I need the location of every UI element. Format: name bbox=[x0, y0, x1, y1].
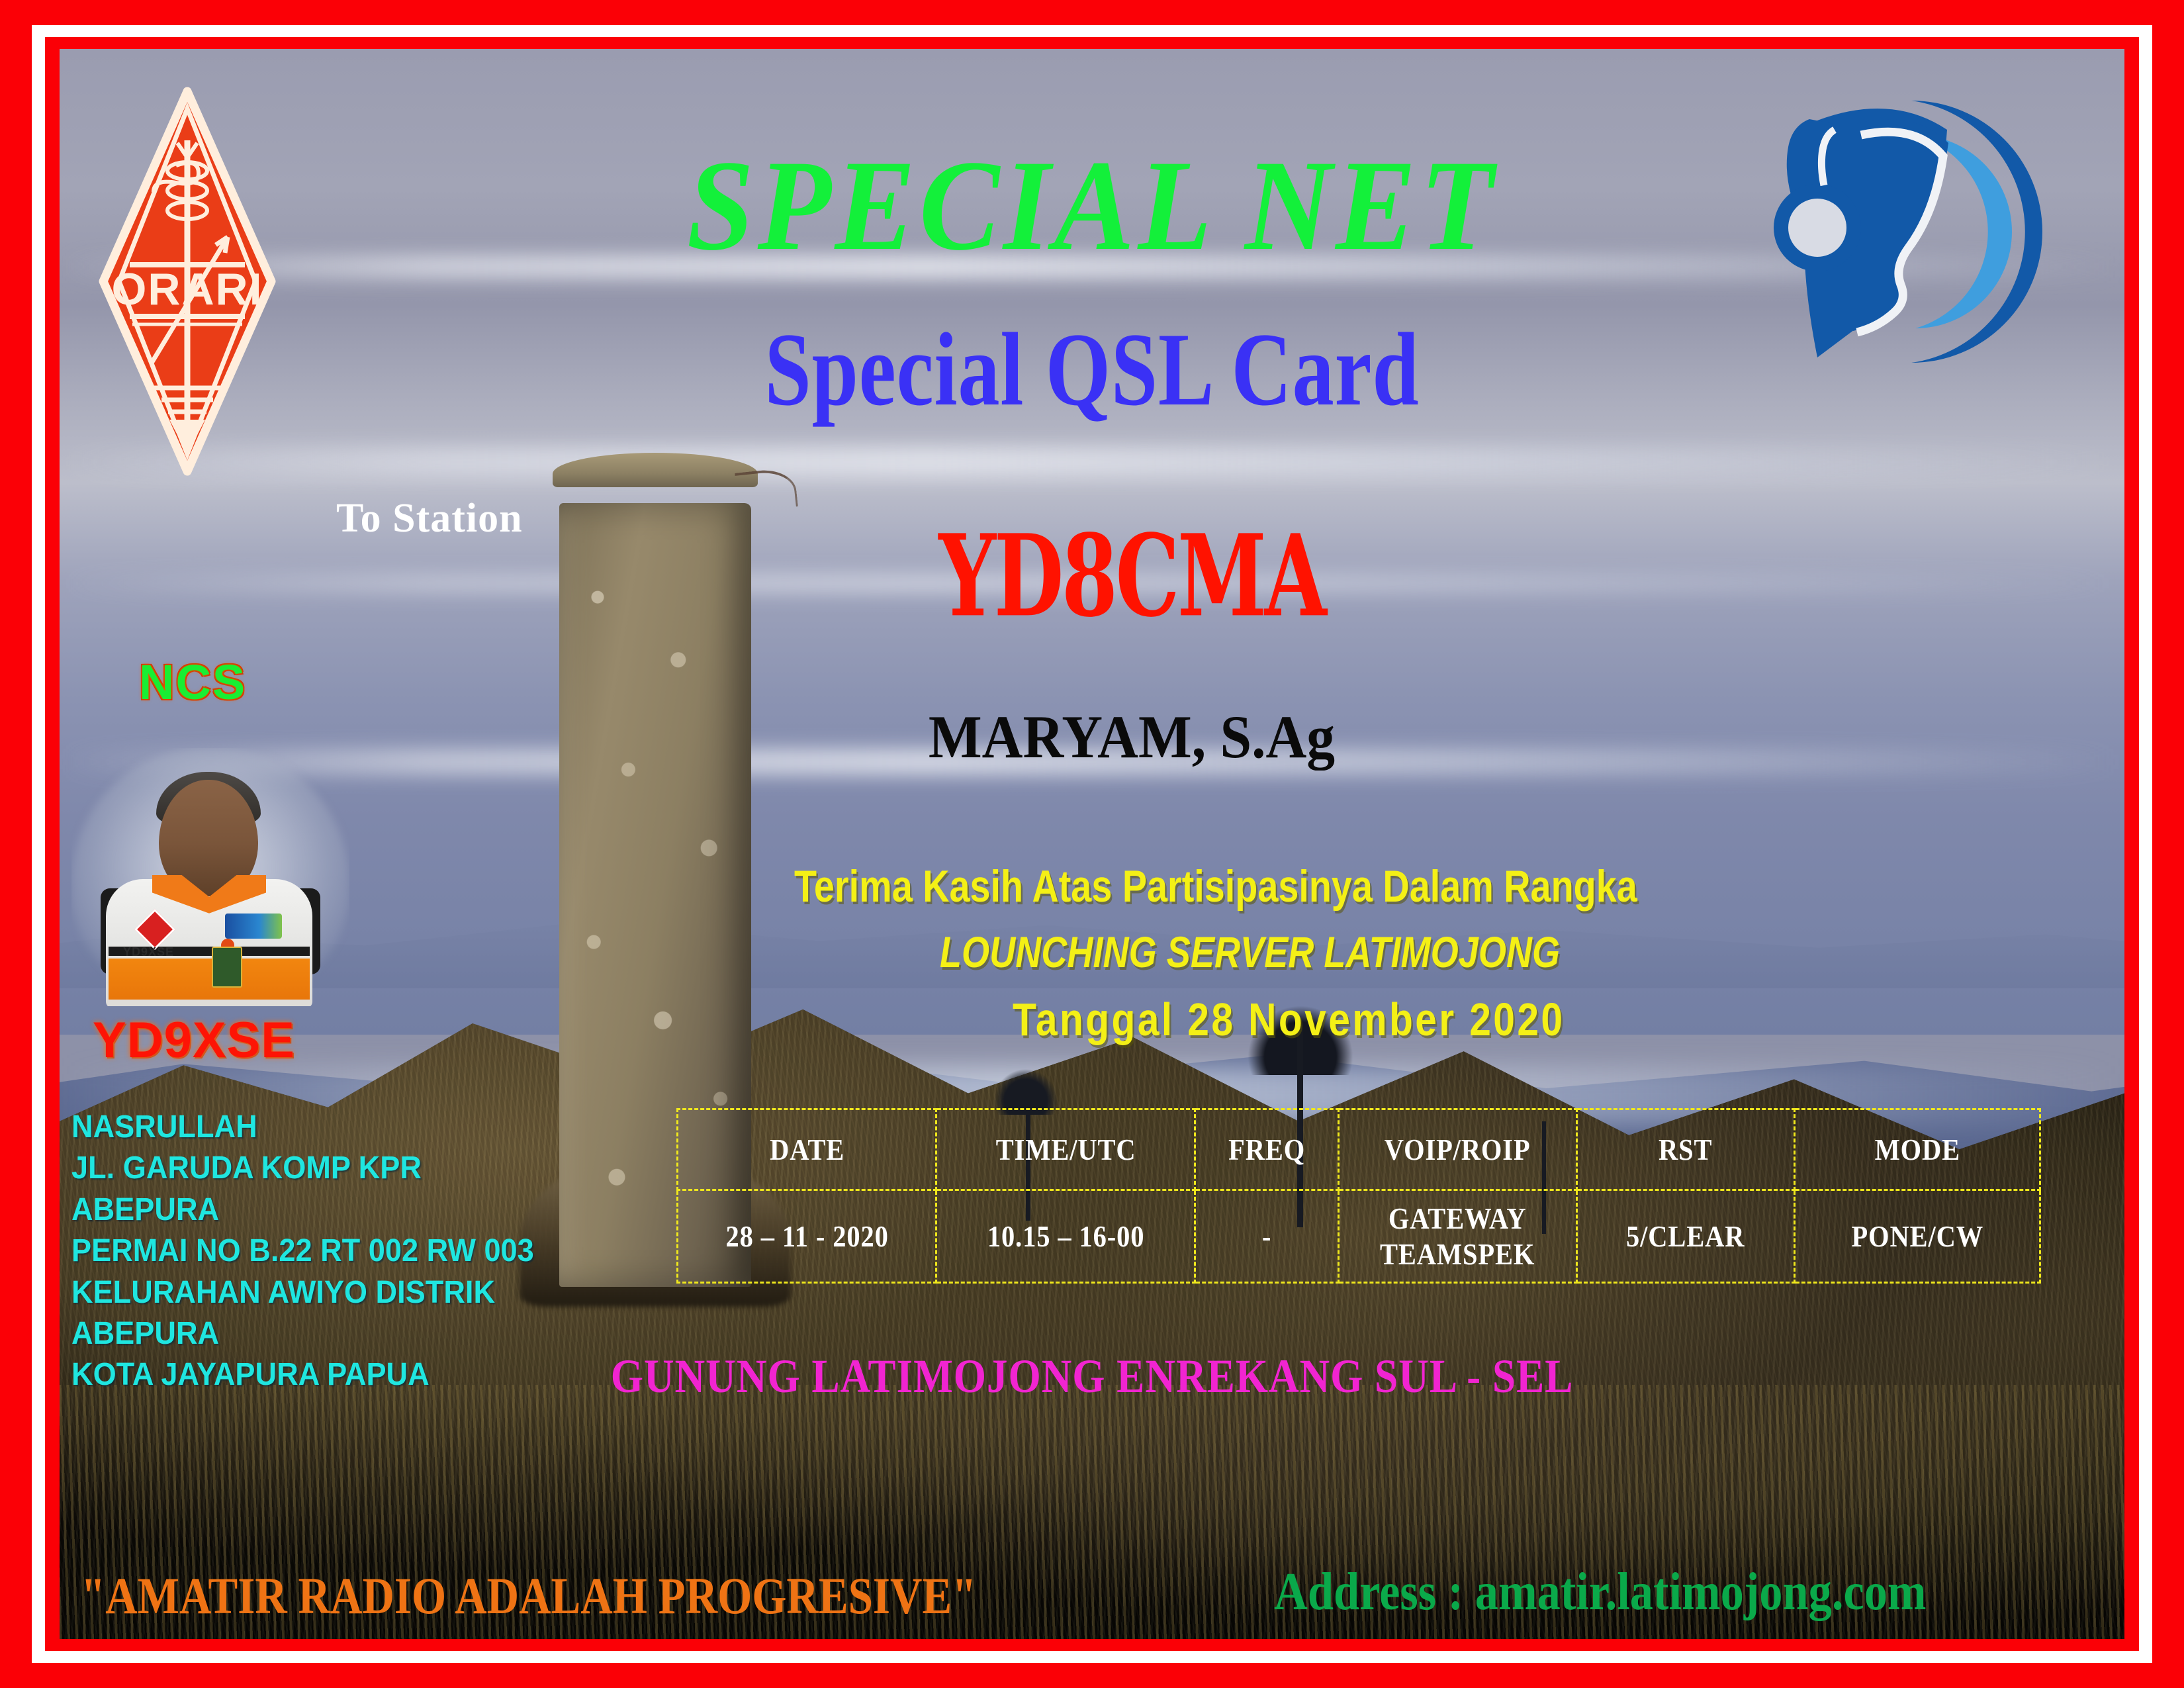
card-content: ORARI SPECIAL NET Speci bbox=[0, 0, 2184, 1688]
ncs-operator-photo: YD9XSE bbox=[71, 748, 349, 1006]
address-line: KELURAHAN AWIYO DISTRIK bbox=[71, 1272, 534, 1313]
thanks-line-3: Tanggal 28 November 2020 bbox=[1013, 993, 1565, 1046]
table-header-row: DATE TIME/UTC FREQ VOIP/ROIP RST MODE bbox=[678, 1109, 2040, 1190]
to-station-label: To Station bbox=[336, 495, 523, 542]
column-header-rst: RST bbox=[1590, 1109, 1782, 1190]
club-patch-icon bbox=[225, 914, 282, 939]
station-callsign: YD8CMA bbox=[788, 509, 1476, 641]
ncs-label: NCS bbox=[139, 654, 246, 710]
column-header-freq: FREQ bbox=[1204, 1109, 1330, 1190]
column-header-mode: MODE bbox=[1809, 1109, 2025, 1190]
column-header-voip-roip: VOIP/ROIP bbox=[1353, 1109, 1563, 1190]
footer-web-address: Address : amatir.latimojong.com bbox=[1274, 1562, 1927, 1622]
column-header-time: TIME/UTC bbox=[952, 1109, 1179, 1190]
footer-slogan: "AMATIR RADIO ADALAH PROGRESIVE" bbox=[81, 1566, 976, 1626]
qso-log-table: DATE TIME/UTC FREQ VOIP/ROIP RST MODE 28… bbox=[676, 1108, 2041, 1284]
address-line: NASRULLAH bbox=[71, 1107, 534, 1148]
cell-voip-roip: GATEWAY TEAMSPEK bbox=[1353, 1190, 1563, 1283]
location-caption: GUNUNG LATIMOJONG ENREKANG SUL - SEL bbox=[131, 1349, 2053, 1404]
address-line: JL. GARUDA KOMP KPR bbox=[71, 1148, 534, 1189]
cell-time: 10.15 – 16-00 bbox=[952, 1190, 1179, 1283]
cell-voip-line1: GATEWAY bbox=[1388, 1201, 1527, 1235]
address-line: ABEPURA bbox=[71, 1190, 534, 1231]
uniform-sash bbox=[109, 959, 310, 1000]
operator-name: MARYAM, S.Ag bbox=[732, 702, 1532, 772]
address-line: ABEPURA bbox=[71, 1313, 534, 1354]
cell-date: 28 – 11 - 2020 bbox=[693, 1190, 921, 1283]
thanks-line-1: Terima Kasih Atas Partisipasinya Dalam R… bbox=[794, 861, 1637, 912]
thanks-line-2: LOUNCHING SERVER LATIMOJONG bbox=[940, 927, 1560, 977]
page-title: SPECIAL NET bbox=[77, 131, 2108, 280]
uniform-callsign-tag: YD9XSE bbox=[123, 945, 174, 959]
page-subtitle: Special QSL Card bbox=[218, 310, 1966, 430]
id-card bbox=[212, 947, 242, 988]
cell-mode: PONE/CW bbox=[1809, 1190, 2025, 1283]
cell-freq: - bbox=[1204, 1190, 1330, 1283]
ncs-callsign: YD9XSE bbox=[93, 1011, 295, 1069]
column-header-date: DATE bbox=[693, 1109, 921, 1190]
cell-rst: 5/CLEAR bbox=[1590, 1190, 1782, 1283]
cell-voip-line2: TEAMSPEK bbox=[1380, 1237, 1535, 1271]
table-row: 28 – 11 - 2020 10.15 – 16-00 - GATEWAY T… bbox=[678, 1190, 2040, 1283]
address-line: PERMAI NO B.22 RT 002 RW 003 bbox=[71, 1231, 534, 1272]
qsl-card: ORARI SPECIAL NET Speci bbox=[0, 0, 2184, 1688]
